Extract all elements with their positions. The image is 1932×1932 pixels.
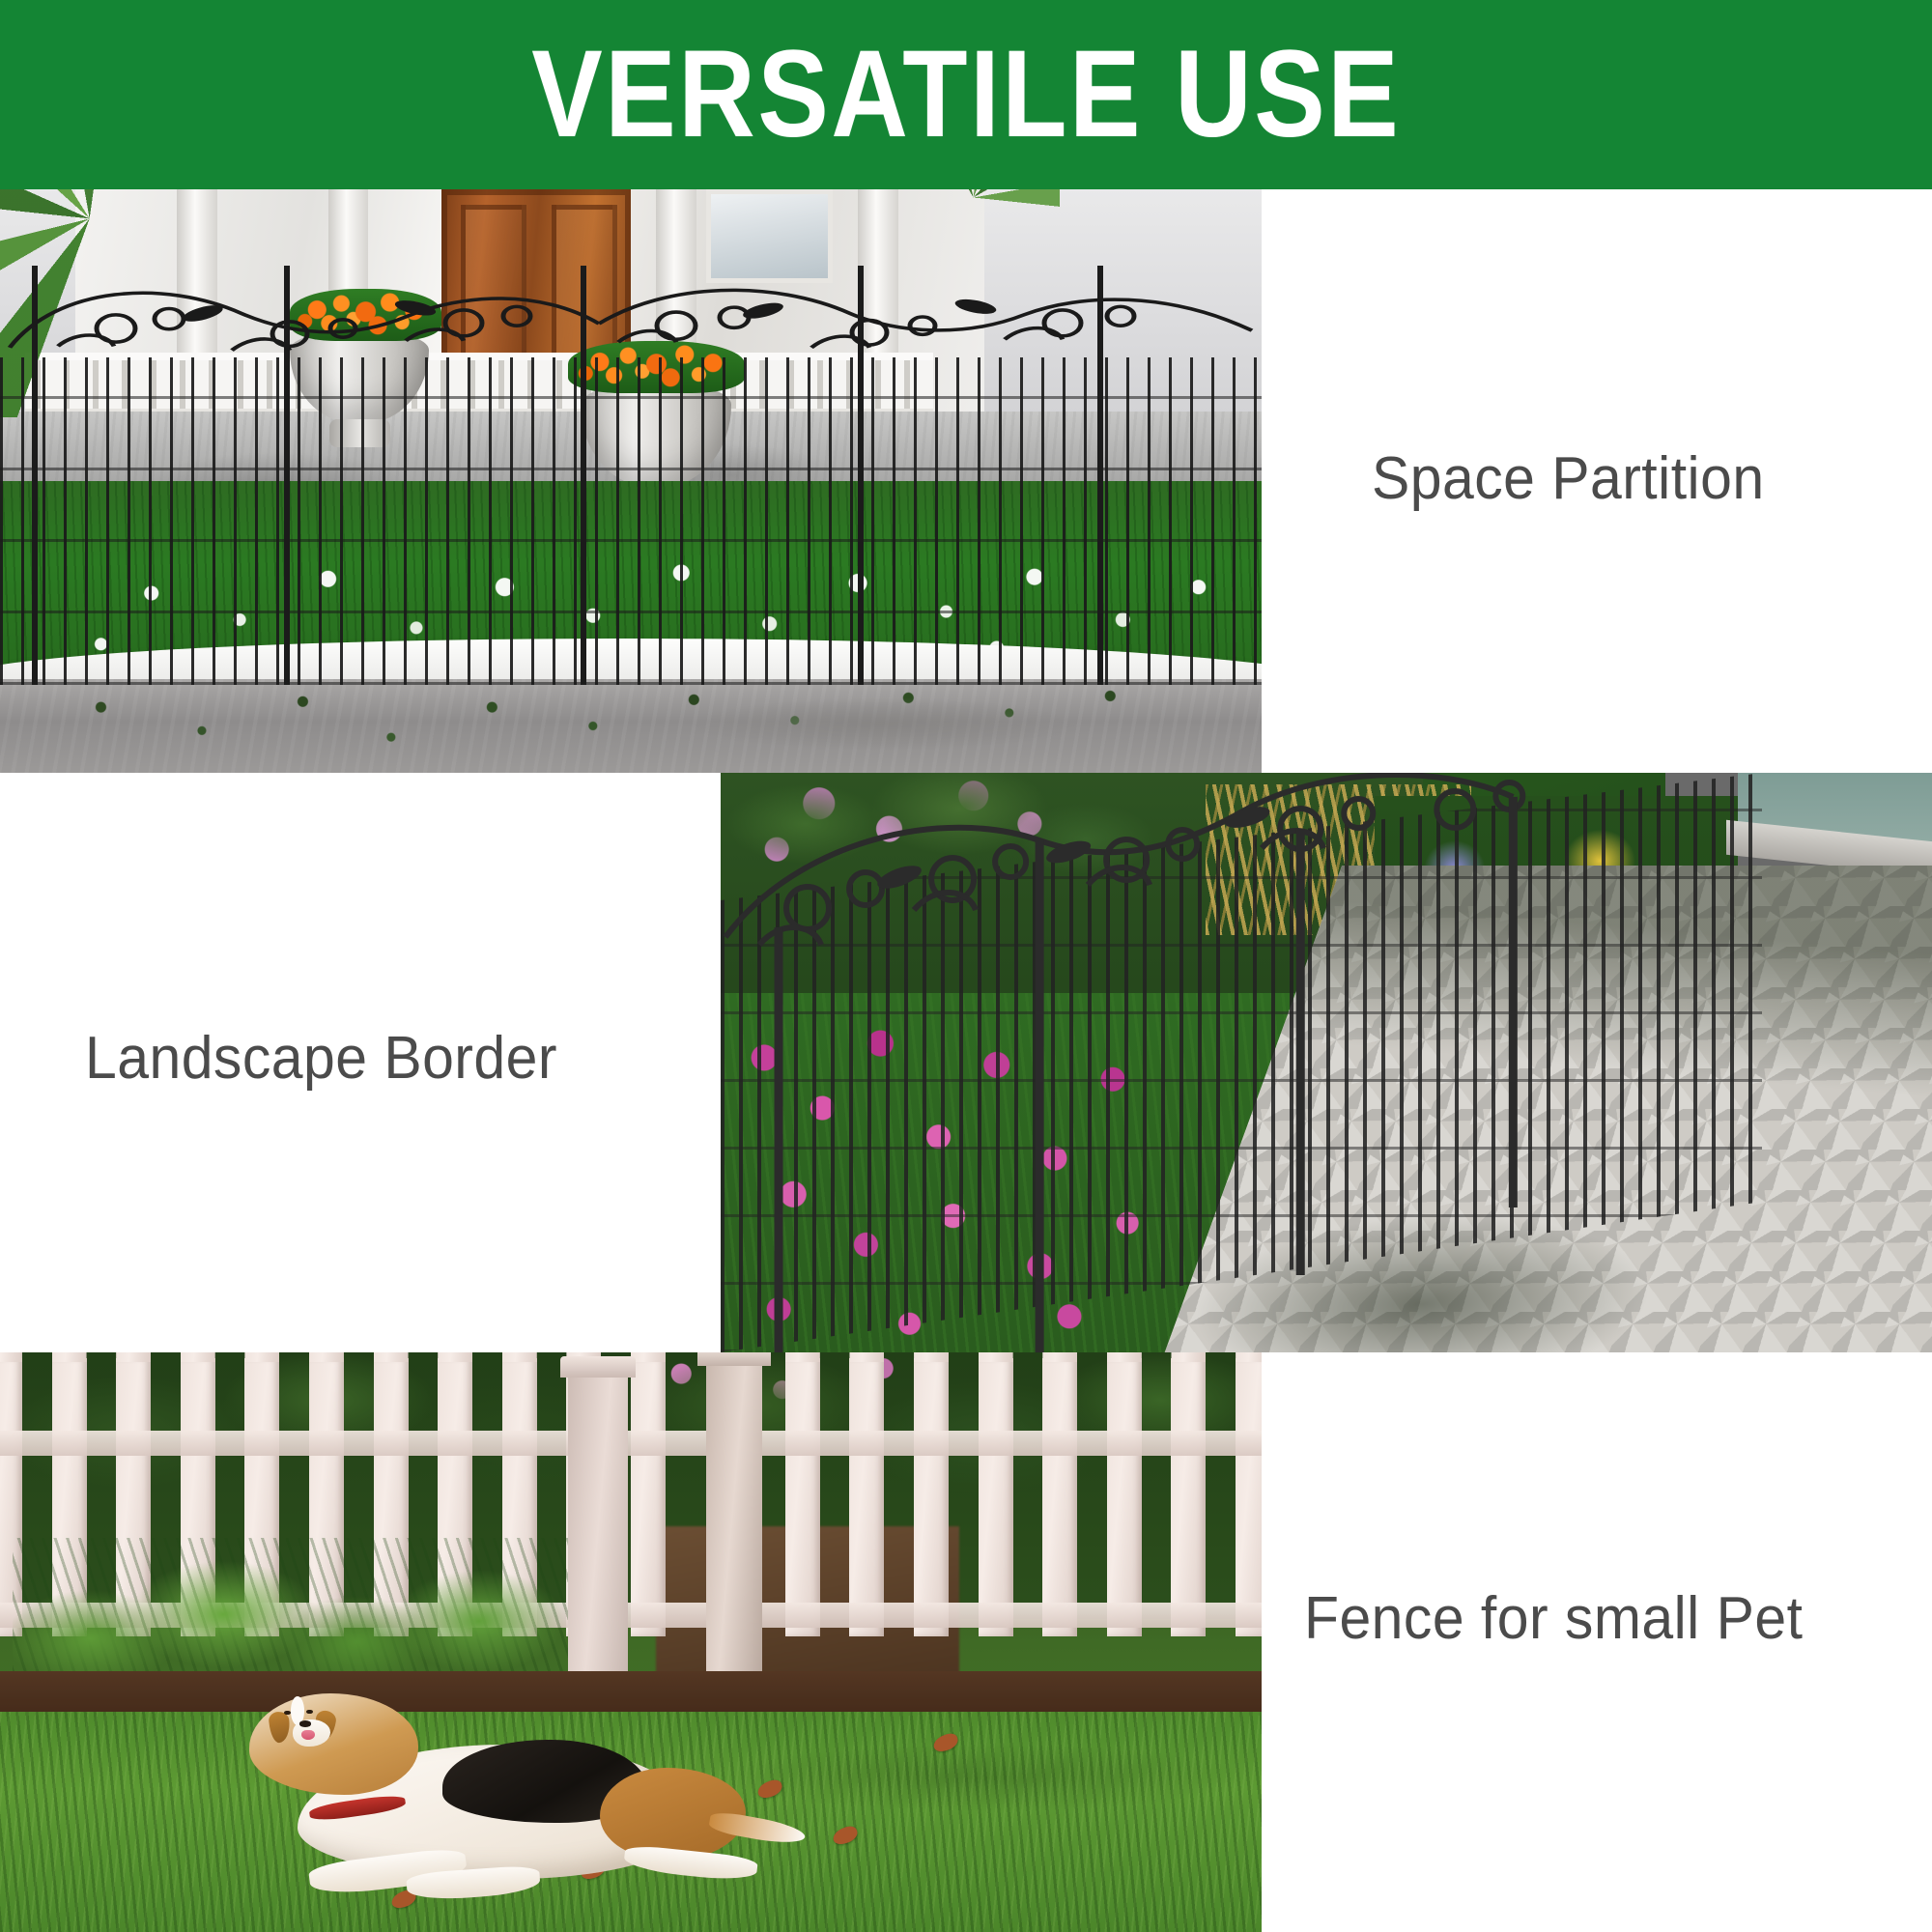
photo-fence-for-small-pet — [0, 1352, 1262, 1932]
dog-nose — [299, 1720, 311, 1726]
fence-picket — [1171, 1358, 1206, 1636]
gate-post — [706, 1364, 762, 1723]
caption-fence-for-small-pet: Fence for small Pet — [1304, 1584, 1803, 1653]
fence-picket — [1042, 1358, 1077, 1636]
fence-picket — [849, 1358, 884, 1636]
fence-picket — [914, 1358, 949, 1636]
ornate-metal-fence — [0, 266, 1262, 686]
dog-head — [249, 1693, 419, 1796]
beagle-dog — [164, 1689, 770, 1920]
fence-picket — [1236, 1358, 1262, 1636]
decorative-border-fence — [721, 773, 1762, 1352]
dog-hind-leg — [623, 1844, 758, 1884]
banner-title: VERSATILE USE — [531, 33, 1401, 156]
caption-landscape-border: Landscape Border — [85, 1024, 557, 1093]
dog-eye — [284, 1711, 290, 1716]
product-feature-image: VERSATILE USE — [0, 0, 1932, 1932]
dog-eye — [306, 1710, 312, 1715]
fence-scrollwork-icon — [0, 266, 1262, 375]
fence-picket — [631, 1358, 666, 1636]
asphalt-pavement — [0, 679, 1262, 773]
photo-landscape-border — [721, 773, 1932, 1352]
header-banner: VERSATILE USE — [0, 0, 1932, 189]
caption-space-partition: Space Partition — [1372, 444, 1765, 513]
dog-ear — [268, 1711, 291, 1744]
fence-wire-mesh — [0, 357, 1262, 685]
fence-scrollwork-icon — [721, 773, 1762, 1352]
photo-space-partition — [0, 189, 1262, 773]
fence-picket — [1107, 1358, 1142, 1636]
fence-picket — [979, 1358, 1013, 1636]
fence-rail — [0, 1431, 1262, 1456]
fence-picket — [785, 1358, 820, 1636]
